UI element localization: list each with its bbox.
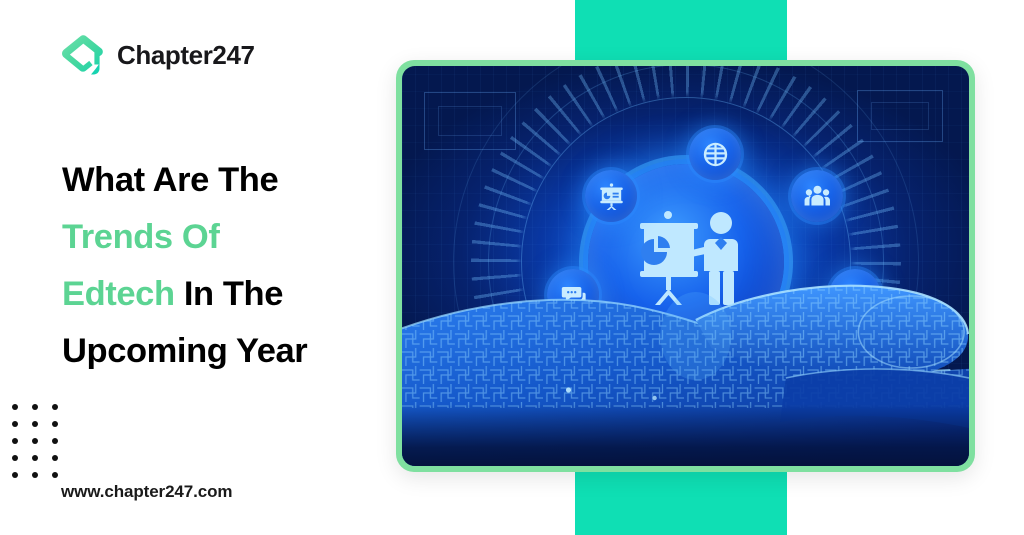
grid-dot [12, 455, 18, 461]
grid-dot [52, 438, 58, 444]
headline-line-1: What Are The [62, 161, 278, 199]
brand-name: Chapter247 [117, 40, 255, 71]
grid-dot [12, 421, 18, 427]
grid-dot [52, 472, 58, 478]
headline-line-3-rest: In The [184, 275, 283, 313]
chapter247-swoosh-logo [58, 33, 106, 77]
hud-corner-decoration [871, 102, 929, 130]
dot-grid-decoration [12, 404, 72, 489]
grid-dot [12, 472, 18, 478]
headline-line-3-highlight: Edtech [62, 275, 175, 313]
grid-dot [32, 421, 38, 427]
grid-dot [52, 404, 58, 410]
grid-dot [52, 455, 58, 461]
globe-icon [689, 128, 741, 180]
brand-logo[interactable]: Chapter247 [58, 33, 255, 77]
people-group-icon [791, 170, 843, 222]
grid-dot [32, 455, 38, 461]
grid-dot [32, 472, 38, 478]
grid-dot [52, 421, 58, 427]
grid-dot [12, 404, 18, 410]
presentation-icon [585, 170, 637, 222]
illustration-image [402, 66, 969, 466]
website-url[interactable]: www.chapter247.com [61, 482, 232, 502]
illustration-card [396, 60, 975, 472]
page-title: What Are The Trends Of Edtech In The Upc… [62, 152, 392, 380]
grid-dot [32, 438, 38, 444]
headline-line-2-highlight: Trends Of [62, 218, 219, 256]
grid-dot [32, 404, 38, 410]
headline-line-4: Upcoming Year [62, 332, 307, 370]
image-bottom-fade [402, 404, 969, 466]
grid-dot [12, 438, 18, 444]
